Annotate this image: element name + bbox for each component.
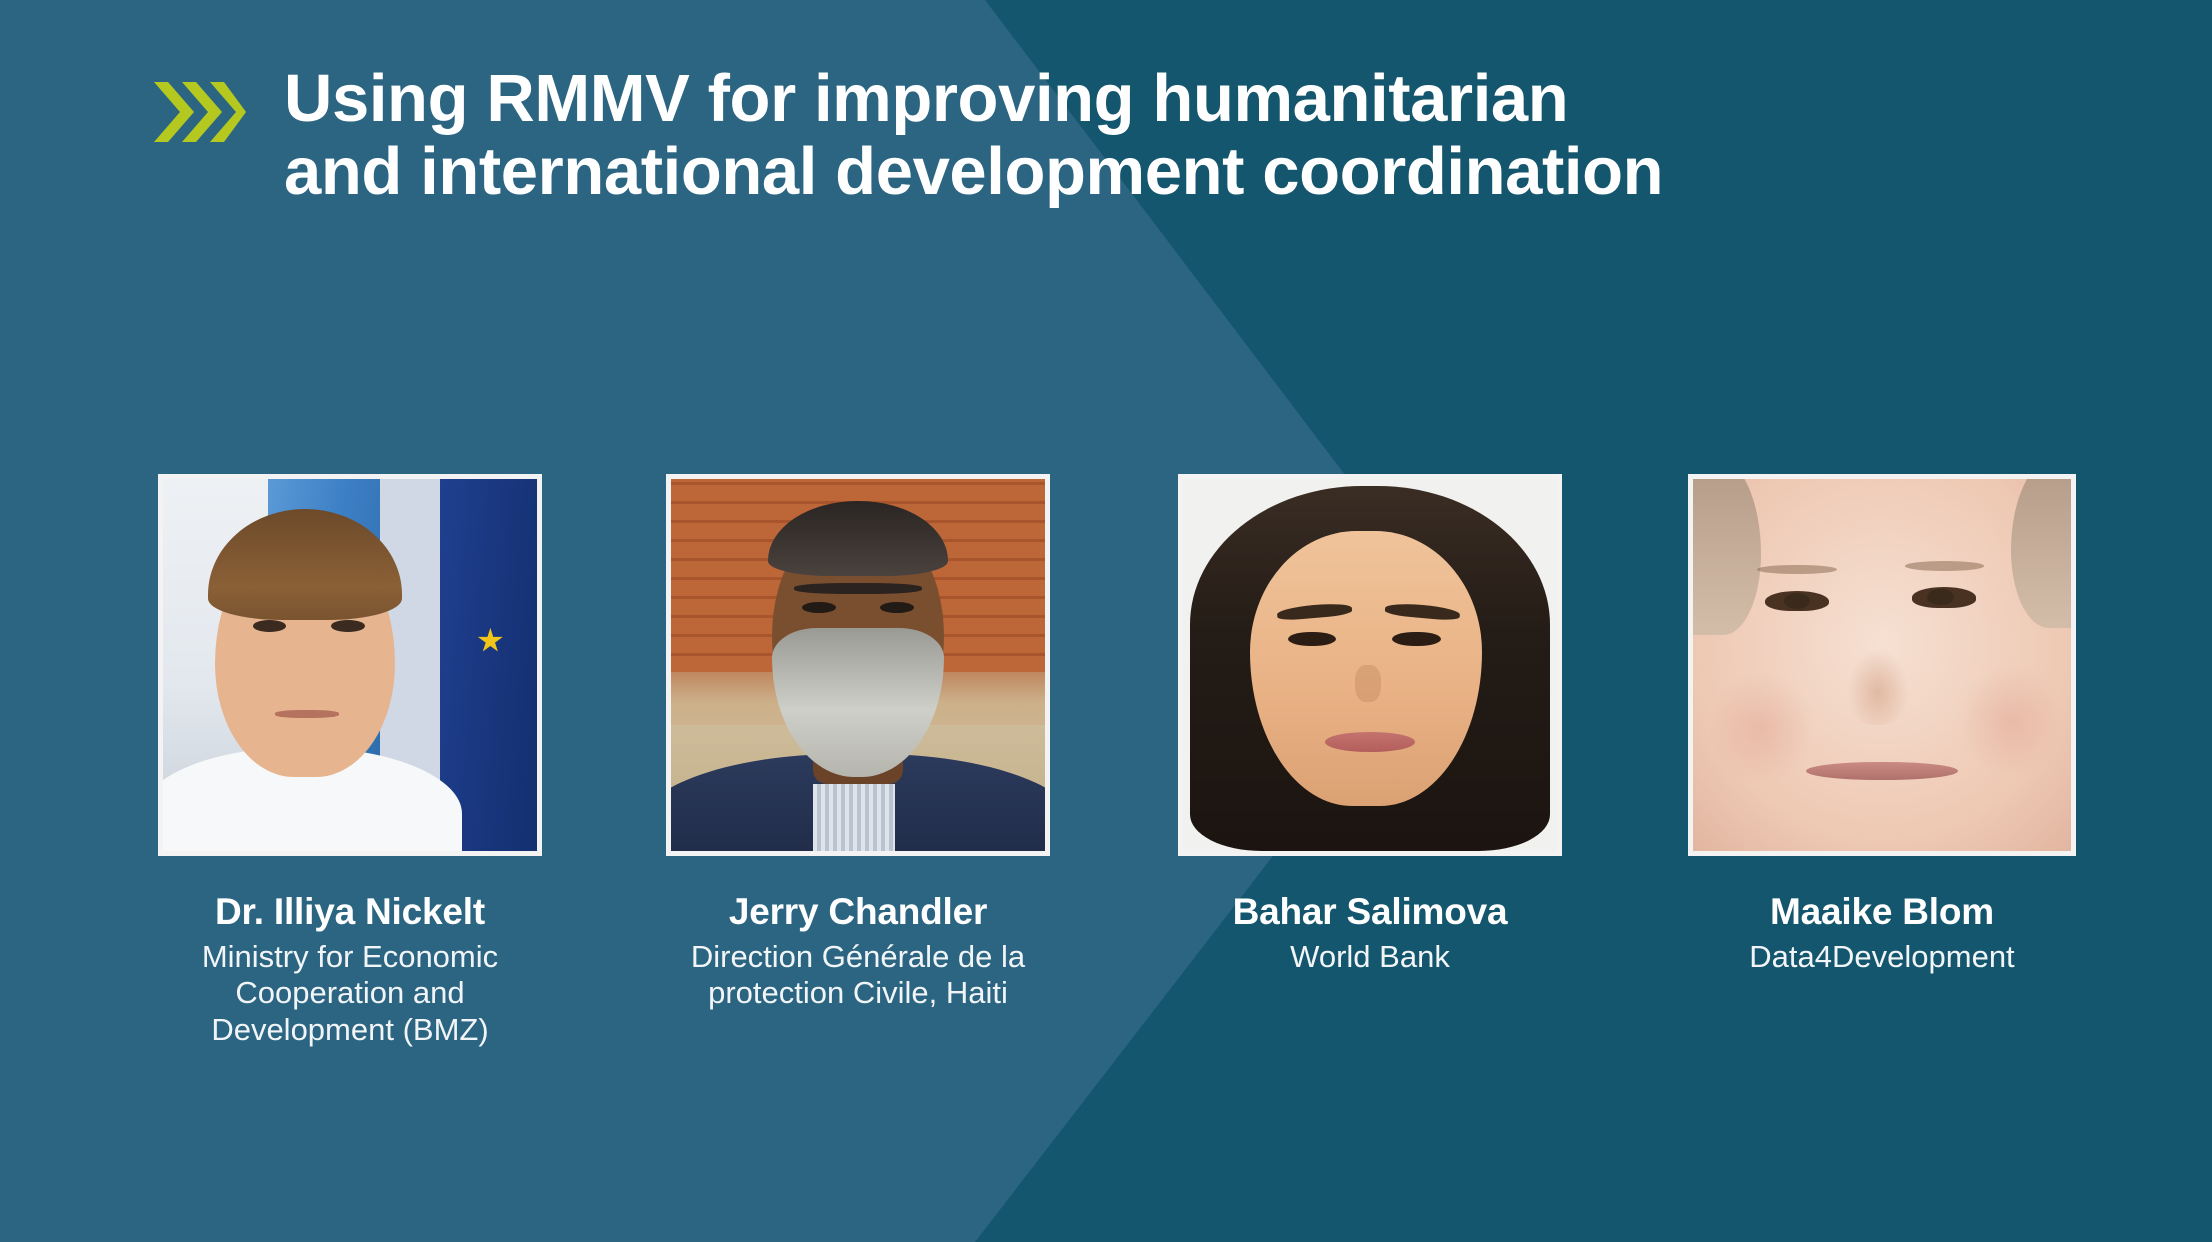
- speaker-name: Jerry Chandler: [666, 892, 1050, 933]
- speaker-card: Ул0У31 Jerry Chandler Direction Générale…: [666, 474, 1050, 1012]
- presentation-slide: Using RMMV for improving humanitarian an…: [0, 0, 2212, 1242]
- triple-chevron-right-icon: [152, 78, 248, 151]
- speaker-name: Maaike Blom: [1688, 892, 2076, 933]
- slide-title-row: Using RMMV for improving humanitarian an…: [152, 62, 1663, 208]
- speaker-name: Bahar Salimova: [1178, 892, 1562, 933]
- speaker-organization: Ministry for Economic Cooperation and De…: [158, 939, 542, 1049]
- speaker-photo: [1688, 474, 2076, 856]
- speaker-card: Maaike Blom Data4Development: [1688, 474, 2076, 975]
- speaker-photo: [1178, 474, 1562, 856]
- speaker-photo: Ул0У31: [666, 474, 1050, 856]
- speaker-organization: World Bank: [1178, 939, 1562, 976]
- speaker-card: Dr. Illiya Nickelt Ministry for Economic…: [158, 474, 542, 1048]
- speaker-organization: Data4Development: [1688, 939, 2076, 976]
- page-title: Using RMMV for improving humanitarian an…: [284, 62, 1663, 208]
- speaker-photo: [158, 474, 542, 856]
- speaker-organization: Direction Générale de la protection Civi…: [666, 939, 1050, 1012]
- speaker-card: Bahar Salimova World Bank: [1178, 474, 1562, 975]
- speaker-name: Dr. Illiya Nickelt: [158, 892, 542, 933]
